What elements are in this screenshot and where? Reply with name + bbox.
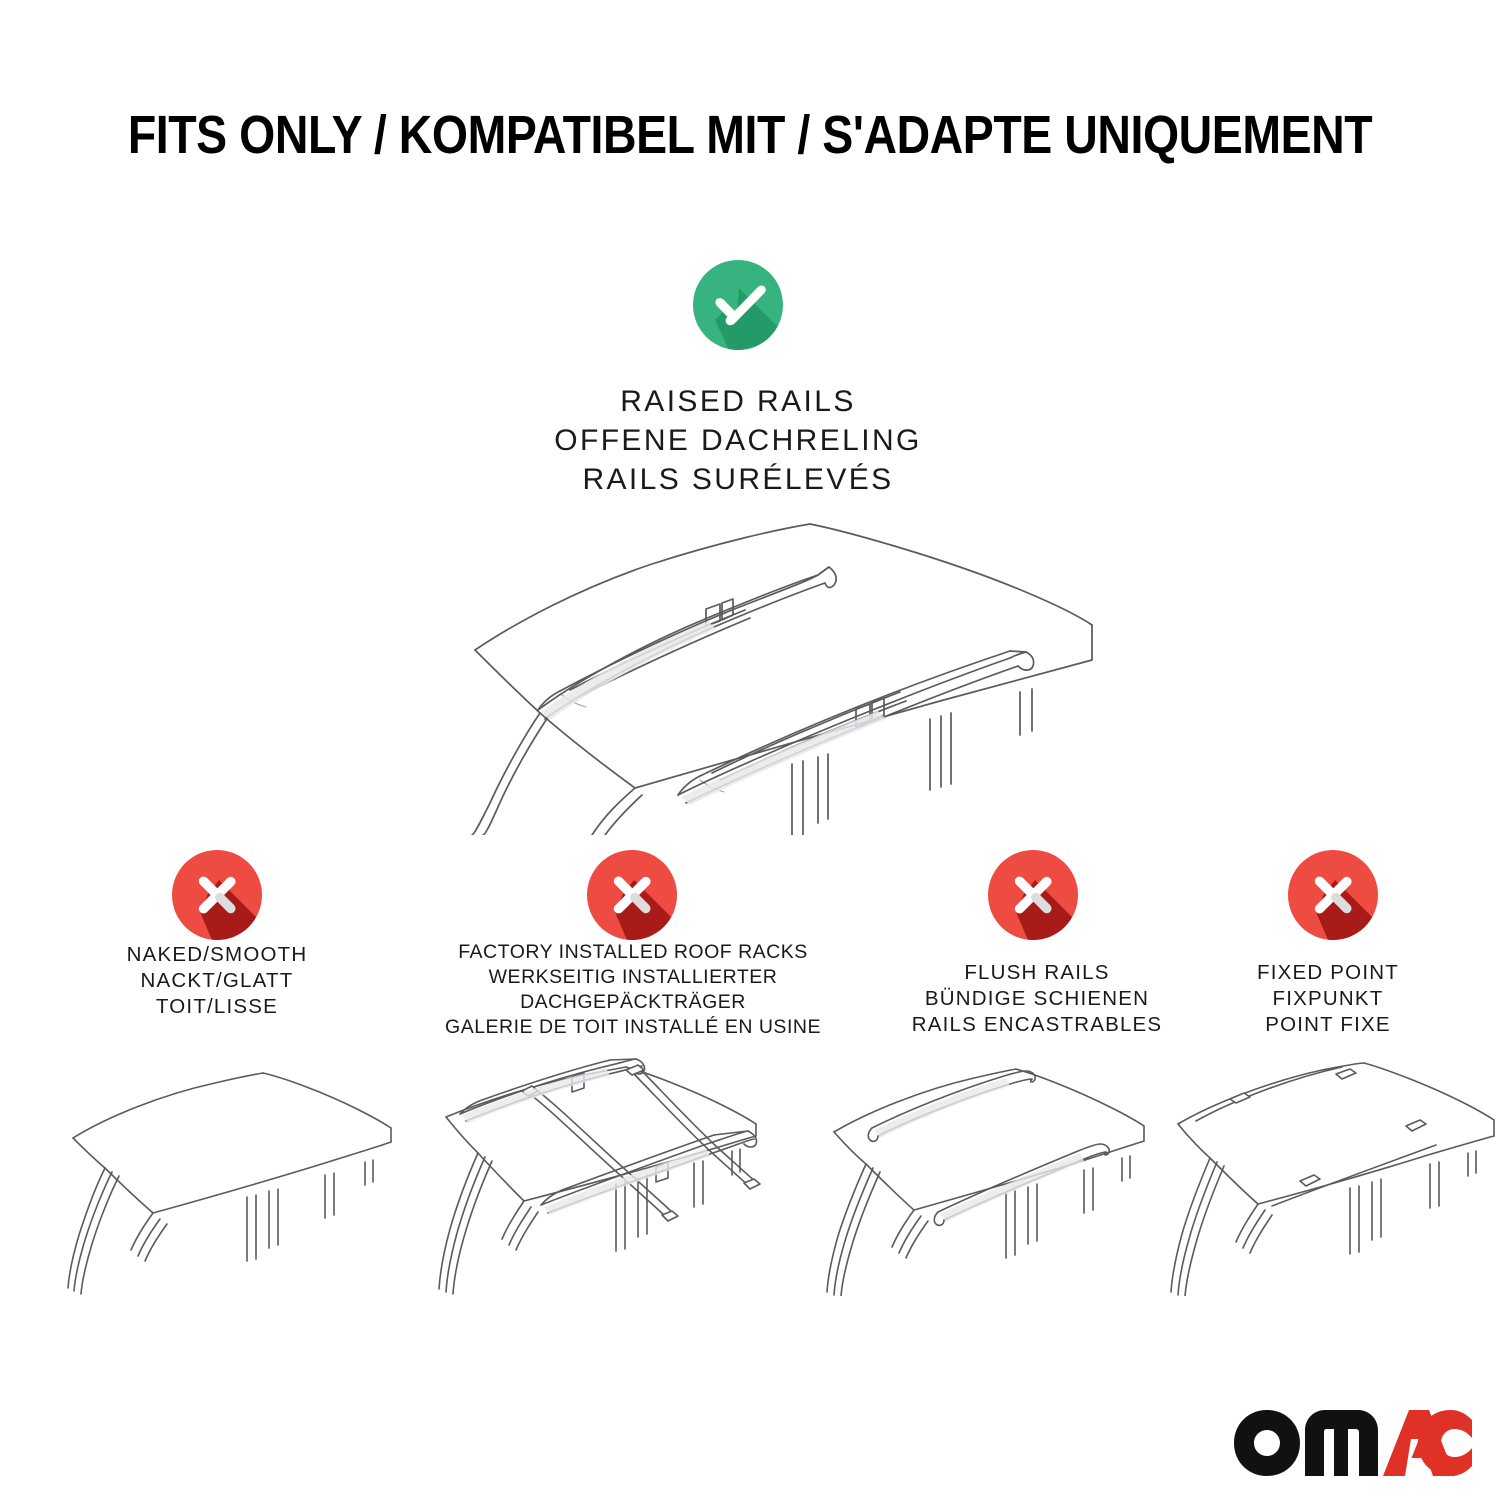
x-glyph	[988, 850, 1078, 940]
check-glyph	[693, 260, 783, 350]
caption-factory-racks: FACTORY INSTALLED ROOF RACKS WERKSEITIG …	[408, 940, 858, 1040]
caption-flush-rails: FLUSH RAILS BÜNDIGE SCHIENEN RAILS ENCAS…	[862, 960, 1212, 1039]
status-badge-fixed-point	[1288, 850, 1378, 940]
logo-letter-m	[1305, 1410, 1378, 1476]
x-circle-icon	[172, 850, 262, 940]
caption-naked: NAKED/SMOOTH NACKT/GLATT TOIT/LISSE	[47, 942, 387, 1021]
logo-letter-o	[1234, 1410, 1300, 1476]
status-badge-compatible	[693, 260, 783, 350]
caption-line: DACHGEPÄCKTRÄGER	[408, 990, 858, 1015]
caption-compatible: RAISED RAILS OFFENE DACHRELING RAILS SUR…	[400, 382, 1076, 499]
caption-line: RAILS SURÉLEVÉS	[400, 460, 1076, 499]
check-circle-icon	[693, 260, 783, 350]
omac-logo	[1233, 1408, 1473, 1478]
omac-logo-mark	[1233, 1408, 1473, 1478]
car-roof-flush-rails-illustration	[786, 1058, 1166, 1296]
status-badge-naked	[172, 850, 262, 940]
caption-line: GALERIE DE TOIT INSTALLÉ EN USINE	[408, 1015, 858, 1040]
caption-line: NAKED/SMOOTH	[47, 942, 387, 968]
status-badge-flush-rails	[988, 850, 1078, 940]
x-glyph	[172, 850, 262, 940]
caption-line: OFFENE DACHRELING	[400, 421, 1076, 460]
caption-line: TOIT/LISSE	[47, 994, 387, 1020]
caption-line: FIXPUNKT	[1178, 986, 1478, 1012]
page-title: FITS ONLY / KOMPATIBEL MIT / S'ADAPTE UN…	[105, 104, 1395, 166]
status-badge-factory-racks	[587, 850, 677, 940]
caption-line: FLUSH RAILS	[862, 960, 1212, 986]
car-roof-factory-racks-illustration	[398, 1055, 778, 1295]
caption-line: RAISED RAILS	[400, 382, 1076, 421]
x-glyph	[587, 850, 677, 940]
x-circle-icon	[587, 850, 677, 940]
x-circle-icon	[988, 850, 1078, 940]
caption-line: WERKSEITIG INSTALLIERTER	[408, 965, 858, 990]
caption-fixed-point: FIXED POINT FIXPUNKT POINT FIXE	[1178, 960, 1478, 1039]
caption-line: NACKT/GLATT	[47, 968, 387, 994]
fitment-infographic: FITS ONLY / KOMPATIBEL MIT / S'ADAPTE UN…	[0, 0, 1500, 1500]
x-circle-icon	[1288, 850, 1378, 940]
caption-line: RAILS ENCASTRABLES	[862, 1012, 1212, 1038]
caption-line: FACTORY INSTALLED ROOF RACKS	[408, 940, 858, 965]
car-roof-naked-illustration	[35, 1060, 405, 1295]
x-glyph	[1288, 850, 1378, 940]
car-roof-fixed-point-illustration	[1140, 1058, 1500, 1296]
caption-line: POINT FIXE	[1178, 1012, 1478, 1038]
caption-line: BÜNDIGE SCHIENEN	[862, 986, 1212, 1012]
caption-line: FIXED POINT	[1178, 960, 1478, 986]
car-roof-raised-rails-illustration	[420, 505, 1110, 835]
